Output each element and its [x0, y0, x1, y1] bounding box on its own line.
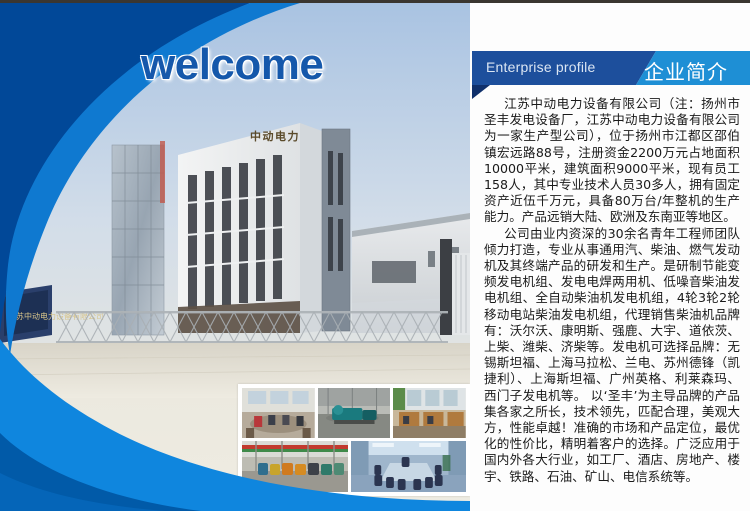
section-banner: Enterprise profile 企业简介 — [472, 51, 750, 85]
welcome-heading: welcome — [141, 40, 323, 90]
hero-panel: 中动电力 — [0, 3, 470, 511]
profile-panel: Enterprise profile 企业简介 江苏中动电力设备有限公司（注：扬… — [470, 3, 750, 511]
banner-title-en: Enterprise profile — [486, 59, 595, 75]
company-profile-banner: 中动电力 — [0, 0, 750, 511]
profile-paragraph-2: 公司由业内资深的30余名青年工程师团队倾力打造，专业从事通用汽、柴油、燃气发动机… — [484, 226, 740, 485]
profile-body-text: 江苏中动电力设备有限公司（注：扬州市圣丰发电设备厂，江苏中动电力设备有限公司为一… — [484, 96, 740, 485]
banner-title-cn: 企业简介 — [644, 56, 728, 85]
profile-paragraph-1: 江苏中动电力设备有限公司（注：扬州市圣丰发电设备厂，江苏中动电力设备有限公司为一… — [484, 96, 740, 226]
